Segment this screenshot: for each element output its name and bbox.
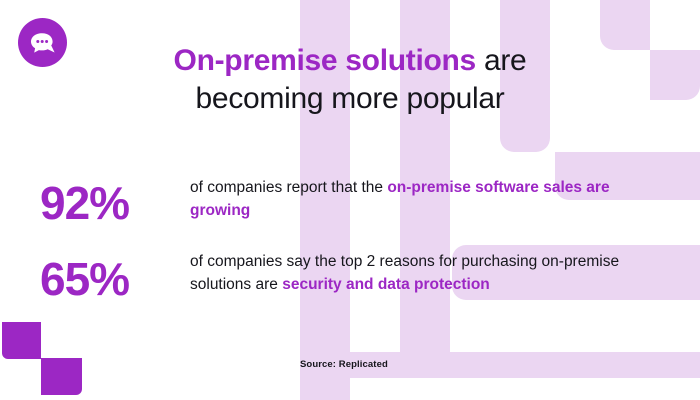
stat-description-emphasis: security and data protection	[282, 276, 490, 293]
chat-bubble-icon	[29, 31, 57, 55]
infographic-content: On-premise solutions are becoming more p…	[0, 0, 700, 400]
stat-value-65: 65%	[40, 250, 190, 304]
page-title: On-premise solutions are becoming more p…	[110, 42, 590, 118]
headline-line2: becoming more popular	[196, 82, 505, 115]
stat-description-lead: of companies report that the	[190, 179, 387, 196]
headline-accent: On-premise solutions	[174, 44, 476, 77]
stat-row: 65% of companies say the top 2 reasons f…	[40, 250, 660, 304]
stat-description: of companies say the top 2 reasons for p…	[190, 250, 660, 296]
stat-value-92: 92%	[40, 176, 190, 228]
stat-description: of companies report that the on-premise …	[190, 176, 660, 222]
stat-row: 92% of companies report that the on-prem…	[40, 176, 660, 228]
infographic-canvas: On-premise solutions are becoming more p…	[0, 0, 700, 400]
source-attribution: Source: Replicated	[300, 359, 388, 370]
headline-plain: are	[476, 44, 527, 77]
brand-logo	[18, 18, 67, 67]
